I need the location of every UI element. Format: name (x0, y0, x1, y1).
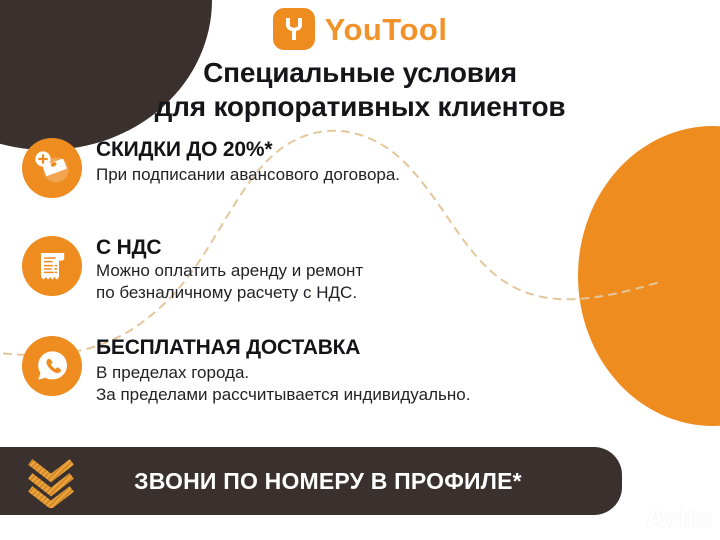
feature-line: В пределах города. (96, 362, 470, 384)
money-stack-plus-icon (22, 138, 82, 198)
youtool-tuning-fork-logo-icon (273, 8, 315, 50)
feature-line: При подписании авансового договора. (96, 164, 400, 186)
feature-line: За пределами рассчитывается индивидуальн… (96, 384, 470, 406)
whatsapp-phone-icon (22, 336, 82, 396)
feature-title: БЕСПЛАТНАЯ ДОСТАВКА (96, 336, 470, 360)
brand-logo: YouTool (0, 8, 720, 50)
avito-dots-icon (613, 503, 641, 534)
feature-list: СКИДКИ ДО 20%* При подписании авансового… (22, 136, 682, 407)
feature-line: Можно оплатить аренду и ремонт (96, 260, 363, 282)
headline: Специальные условия для корпоративных кл… (0, 56, 720, 124)
headline-line-2: для корпоративных клиентов (0, 90, 720, 124)
headline-line-1: Специальные условия (0, 56, 720, 90)
feature-text-discount: СКИДКИ ДО 20%* При подписании авансового… (96, 136, 400, 186)
invoice-document-icon (22, 236, 82, 296)
feature-item-vat: С НДС Можно оплатить аренду и ремонт по … (22, 234, 682, 304)
brand-name: YouTool (325, 14, 448, 45)
feature-line: по безналичному расчету с НДС. (96, 282, 363, 304)
feature-text-vat: С НДС Можно оплатить аренду и ремонт по … (96, 234, 363, 304)
call-to-action-bar[interactable]: ЗВОНИ ПО НОМЕРУ В ПРОФИЛЕ* (0, 447, 622, 515)
feature-item-delivery: БЕСПЛАТНАЯ ДОСТАВКА В пределах города. З… (22, 334, 682, 406)
triple-chevron-down-icon (24, 454, 78, 508)
promo-banner: YouTool Специальные условия для корпорат… (0, 0, 720, 540)
feature-text-delivery: БЕСПЛАТНАЯ ДОСТАВКА В пределах города. З… (96, 334, 470, 406)
feature-title: СКИДКИ ДО 20%* (96, 138, 400, 162)
feature-item-discount: СКИДКИ ДО 20%* При подписании авансового… (22, 136, 682, 198)
avito-watermark: Avito (613, 503, 713, 534)
feature-title: С НДС (96, 236, 363, 260)
avito-watermark-text: Avito (646, 505, 713, 532)
call-to-action-text: ЗВОНИ ПО НОМЕРУ В ПРОФИЛЕ* (78, 468, 622, 495)
